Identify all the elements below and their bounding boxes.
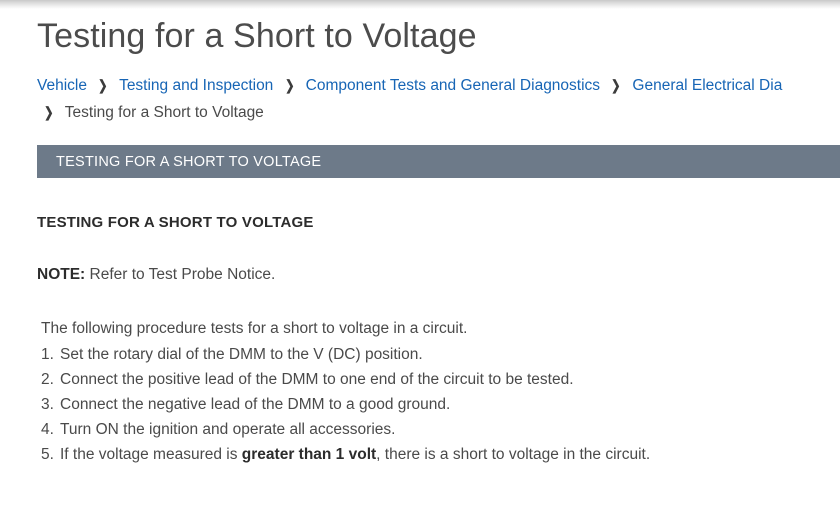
chevron-right-icon: ❯ xyxy=(39,99,58,126)
step-text-tail: , there is a short to voltage in the cir… xyxy=(376,446,650,463)
breadcrumb: Vehicle ❯ Testing and Inspection ❯ Compo… xyxy=(37,72,840,126)
top-chrome-strip xyxy=(0,0,840,9)
step-number: 4. xyxy=(41,417,60,442)
step-emphasis: greater than 1 volt xyxy=(242,446,376,463)
step-number: 1. xyxy=(41,342,60,367)
page-title: Testing for a Short to Voltage xyxy=(37,17,477,56)
breadcrumb-item-general-electrical-diagnostics[interactable]: General Electrical Dia xyxy=(632,77,782,94)
list-item: 4.Turn ON the ignition and operate all a… xyxy=(41,417,832,442)
step-number: 5. xyxy=(41,442,60,467)
note-paragraph: NOTE: Refer to Test Probe Notice. xyxy=(37,266,832,284)
list-item: 3.Connect the negative lead of the DMM t… xyxy=(41,392,832,417)
section-header-label: TESTING FOR A SHORT TO VOLTAGE xyxy=(37,154,321,170)
step-text: Connect the positive lead of the DMM to … xyxy=(60,371,574,388)
step-number: 3. xyxy=(41,392,60,417)
step-text: Set the rotary dial of the DMM to the V … xyxy=(60,346,423,363)
chevron-right-icon: ❯ xyxy=(280,72,299,99)
breadcrumb-second-line: ❯ Testing for a Short to Voltage xyxy=(37,99,840,126)
section-header-bar: TESTING FOR A SHORT TO VOLTAGE xyxy=(37,145,840,178)
chevron-right-icon: ❯ xyxy=(607,72,626,99)
breadcrumb-item-current: Testing for a Short to Voltage xyxy=(65,104,264,121)
procedure-step-list: 1.Set the rotary dial of the DMM to the … xyxy=(37,342,832,467)
chevron-right-icon: ❯ xyxy=(94,72,113,99)
step-text: If the voltage measured is xyxy=(60,446,242,463)
step-text: Connect the negative lead of the DMM to … xyxy=(60,396,450,413)
article-body: TESTING FOR A SHORT TO VOLTAGE NOTE: Ref… xyxy=(37,214,832,467)
list-item: 2.Connect the positive lead of the DMM t… xyxy=(41,367,832,392)
document-content: Testing for a Short to Voltage Vehicle ❯… xyxy=(0,9,840,507)
list-item: 5.If the voltage measured is greater tha… xyxy=(41,442,832,467)
note-text: Refer to Test Probe Notice. xyxy=(85,266,275,283)
article-heading: TESTING FOR A SHORT TO VOLTAGE xyxy=(37,214,832,231)
breadcrumb-item-component-tests-and-general-diagnostics[interactable]: Component Tests and General Diagnostics xyxy=(306,77,600,94)
note-label: NOTE: xyxy=(37,266,85,283)
step-text: Turn ON the ignition and operate all acc… xyxy=(60,421,395,438)
document-page: Testing for a Short to Voltage Vehicle ❯… xyxy=(0,0,840,507)
list-item: 1.Set the rotary dial of the DMM to the … xyxy=(41,342,832,367)
procedure-intro: The following procedure tests for a shor… xyxy=(37,320,832,338)
breadcrumb-item-vehicle[interactable]: Vehicle xyxy=(37,77,87,94)
step-number: 2. xyxy=(41,367,60,392)
breadcrumb-item-testing-and-inspection[interactable]: Testing and Inspection xyxy=(119,77,273,94)
